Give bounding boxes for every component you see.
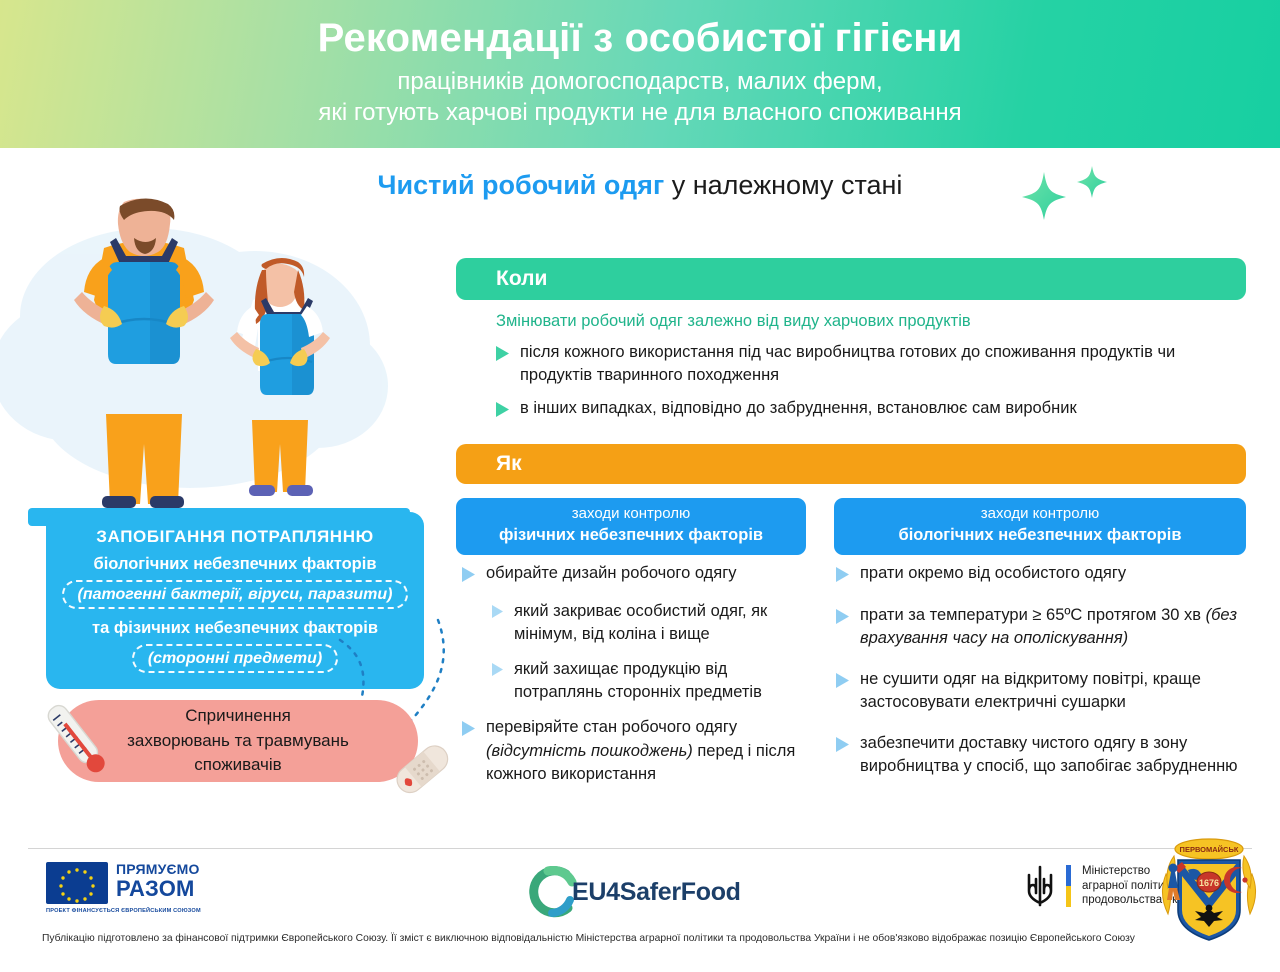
when-lead-text: Змінювати робочий одяг залежно від виду … (496, 312, 1256, 331)
eu-funding-logo: ПРЯМУЄМО РАЗОМ ПРОЕКТ ФІНАНСУЄТЬСЯ ЄВРОП… (46, 862, 206, 914)
biological-measures-list: прати окремо від особистого одягу прати … (836, 562, 1248, 792)
col-right-head-line1: заходи контролю (842, 505, 1238, 523)
section-title-rest: у належному стані (664, 170, 902, 200)
eu4saferfood-text: EU4SaferFood (572, 878, 741, 907)
trident-icon (1025, 865, 1055, 907)
list-item: після кожного використання під час вироб… (496, 341, 1236, 387)
phys-item-1: перевіряйте стан робочого одягу (відсутн… (486, 716, 812, 786)
col-left-head-line1: заходи контролю (464, 505, 798, 523)
list-item: в інших випадках, відповідно до забрудне… (496, 397, 1236, 422)
how-section-bar: Як (456, 444, 1246, 484)
header-banner: Рекомендації з особистої гігієни працівн… (0, 0, 1280, 148)
thermometer-icon (44, 694, 116, 786)
eu-logo-caption: ПРОЕКТ ФІНАНСУЄТЬСЯ ЄВРОПЕЙСЬКИМ СОЮЗОМ (46, 904, 206, 914)
footer-divider (28, 848, 1252, 849)
prevention-bio-examples: (патогенні бактерії, віруси, паразити) (62, 580, 409, 609)
triangle-bullet-icon (492, 605, 503, 623)
triangle-bullet-icon (492, 663, 503, 681)
city-coat-of-arms: ПЕРВОМАЙСЬК 1676 (1152, 838, 1266, 946)
triangle-bullet-icon (836, 609, 849, 629)
flag-bar-icon (1066, 865, 1071, 907)
list-item: обирайте дизайн робочого одягу (462, 562, 812, 587)
triangle-bullet-icon (836, 673, 849, 693)
sparkle-decoration (1012, 166, 1122, 222)
prevention-phys-examples: (сторонні предмети) (132, 644, 338, 673)
eu4saferfood-logo: EU4SaferFood (528, 866, 741, 918)
prevention-bio-line: біологічних небезпечних факторів (58, 554, 412, 575)
infographic-page: Рекомендації з особистої гігієни працівн… (0, 0, 1280, 972)
workers-illustration (0, 196, 440, 526)
page-title: Рекомендації з особистої гігієни (0, 16, 1280, 61)
triangle-bullet-icon (462, 567, 475, 587)
consequence-line3: споживачів (127, 753, 349, 778)
bio-item-3: забезпечити доставку чистого одягу в зон… (860, 732, 1248, 779)
crest-city-name: ПЕРВОМАЙСЬК (1180, 845, 1239, 854)
triangle-bullet-icon (462, 721, 475, 741)
when-item-1: в інших випадках, відповідно до забрудне… (520, 397, 1077, 420)
phys-sub-1: який захищає продукцію від потраплянь ст… (514, 658, 812, 704)
col-left-head-line2: фізичних небезпечних факторів (464, 525, 798, 546)
bandage-icon (392, 744, 454, 796)
prevention-title: ЗАПОБІГАННЯ ПОТРАПЛЯННЮ (58, 526, 412, 547)
when-section-bar: Коли (456, 258, 1246, 300)
col-right-head-line2: біологічних небезпечних факторів (842, 525, 1238, 546)
phys-sub-0: який закриває особистий одяг, як мінімум… (514, 600, 812, 646)
bio-item-2: не сушити одяг на відкритому повітрі, кр… (860, 668, 1248, 715)
funding-disclaimer: Публікацію підготовлено за фінансової пі… (42, 932, 1142, 947)
eu-flag-icon (46, 862, 108, 904)
header-subtitle-line2: які готують харчові продукти не для влас… (0, 98, 1280, 129)
consequence-line2: захворювань та травмувань (127, 729, 349, 754)
consequence-line1: Спричинення (127, 704, 349, 729)
how-bar-label: Як (496, 452, 522, 476)
triangle-bullet-icon (496, 346, 509, 366)
list-item: який захищає продукцію від потраплянь ст… (492, 658, 812, 704)
list-item: забезпечити доставку чистого одягу в зон… (836, 732, 1248, 779)
list-item: прати за температури ≥ 65ºC протягом 30 … (836, 604, 1248, 651)
physical-measures-list: обирайте дизайн робочого одягу який закр… (462, 562, 812, 800)
phys-item-0: обирайте дизайн робочого одягу (486, 562, 737, 585)
column-header-biological: заходи контролю біологічних небезпечних … (834, 498, 1246, 555)
when-item-0: після кожного використання під час вироб… (520, 341, 1236, 387)
column-header-physical: заходи контролю фізичних небезпечних фак… (456, 498, 806, 555)
list-item: прати окремо від особистого одягу (836, 562, 1248, 587)
triangle-bullet-icon (836, 567, 849, 587)
eu-logo-words: ПРЯМУЄМО РАЗОМ (116, 862, 206, 900)
triangle-bullet-icon (496, 402, 509, 422)
eu-word-2: РАЗОМ (116, 878, 206, 900)
consequence-text: Спричинення захворювань та травмувань сп… (127, 704, 349, 778)
list-item: який закриває особистий одяг, як мінімум… (492, 600, 812, 646)
header-subtitle-line1: працівників домогосподарств, малих ферм, (0, 67, 1280, 98)
physical-sub-list: який закриває особистий одяг, як мінімум… (492, 600, 812, 704)
sparkle-icon (1022, 166, 1107, 220)
bio-item-0: прати окремо від особистого одягу (860, 562, 1126, 585)
bio-item-1: прати за температури ≥ 65ºC протягом 30 … (860, 604, 1248, 651)
list-item: не сушити одяг на відкритому повітрі, кр… (836, 668, 1248, 715)
triangle-bullet-icon (836, 737, 849, 757)
crest-year: 1676 (1199, 878, 1219, 888)
eu-word-1: ПРЯМУЄМО (116, 862, 206, 876)
when-items-list: після кожного використання під час вироб… (496, 341, 1236, 432)
list-item: перевіряйте стан робочого одягу (відсутн… (462, 716, 812, 786)
when-bar-label: Коли (496, 267, 547, 291)
